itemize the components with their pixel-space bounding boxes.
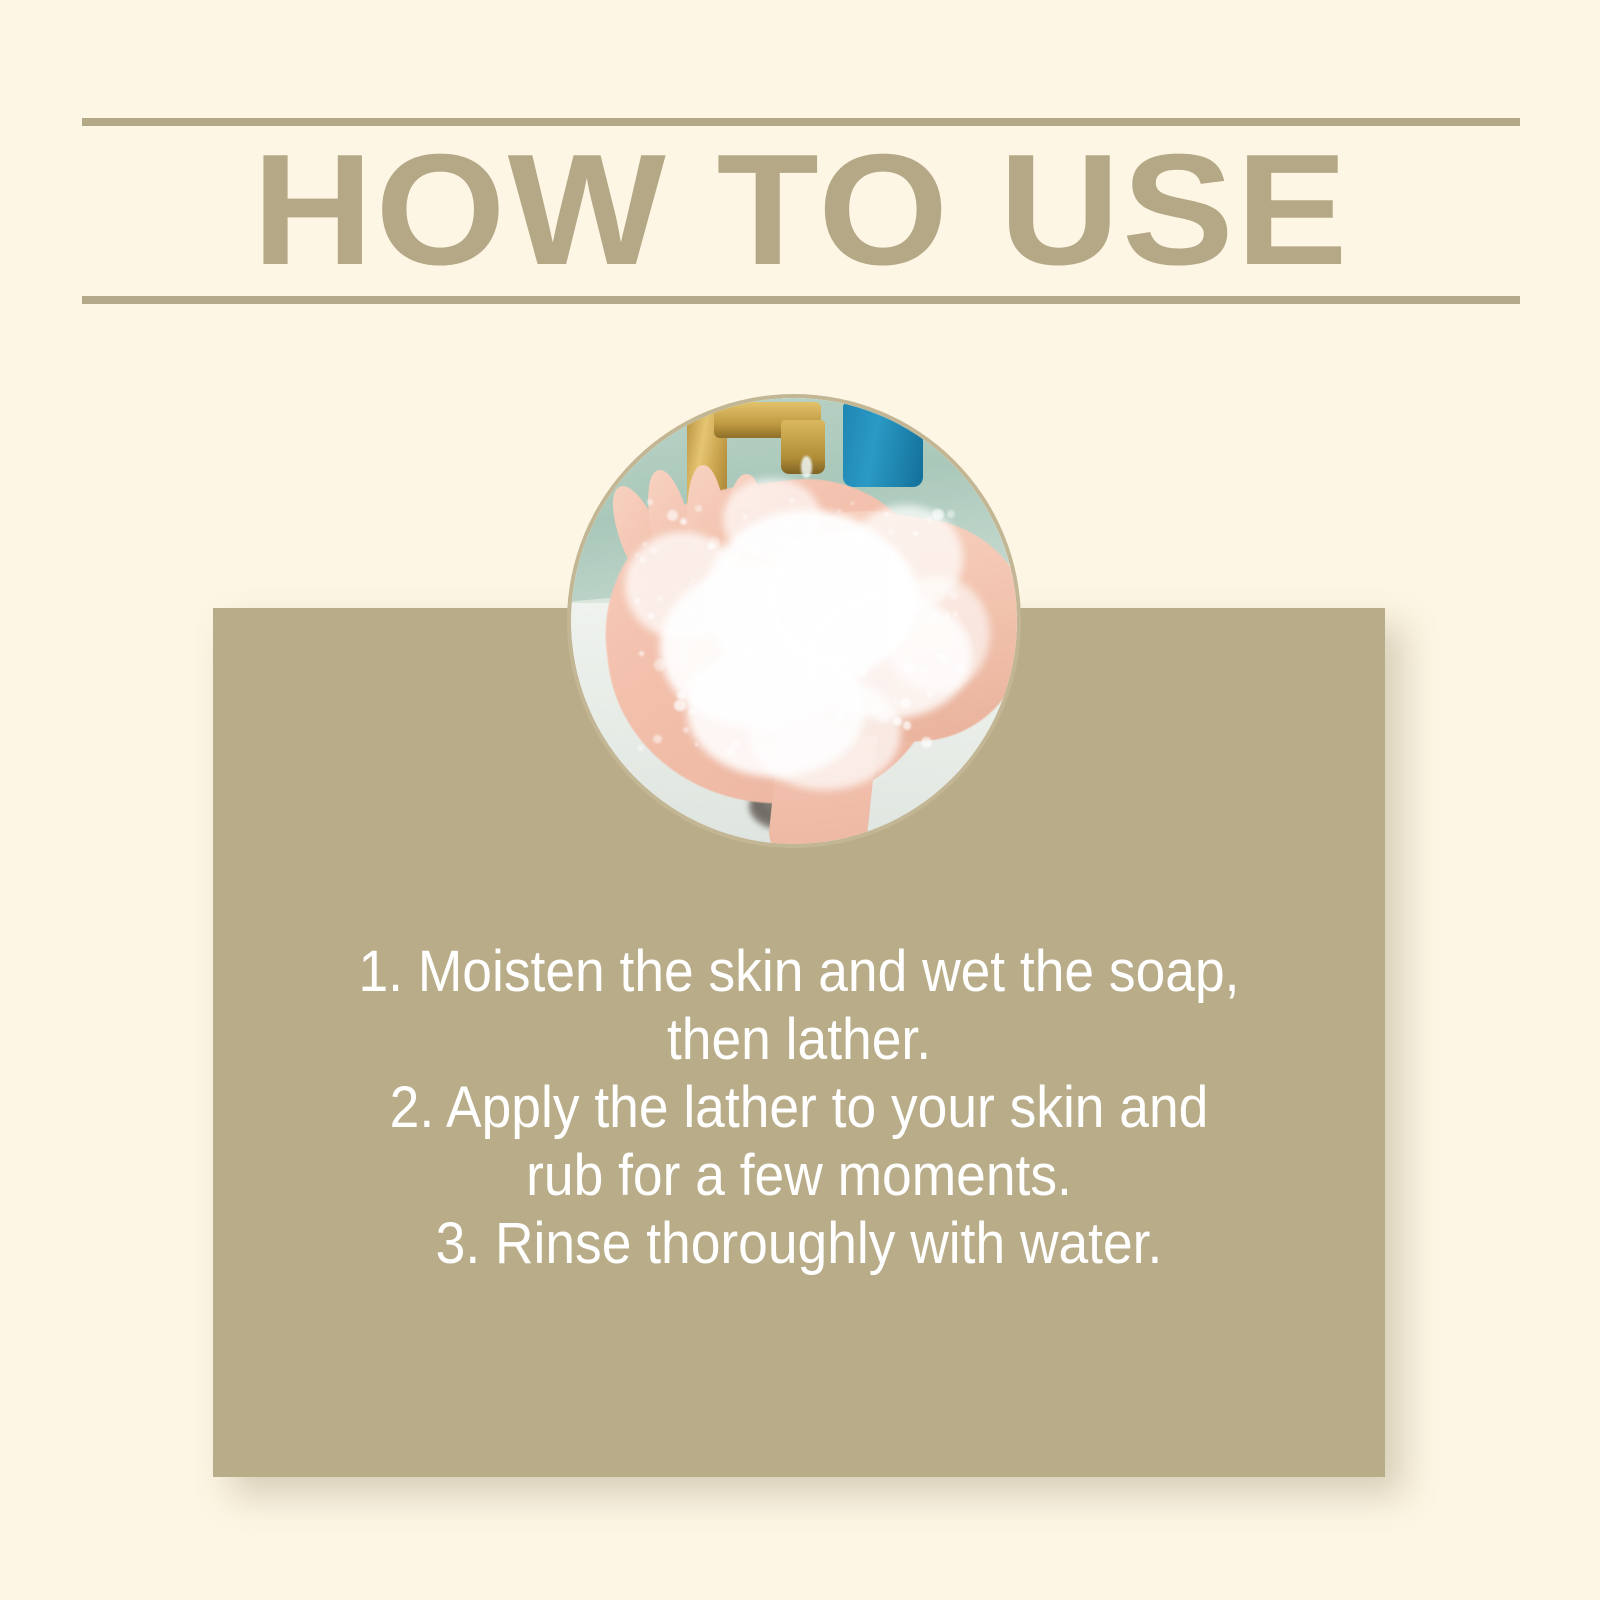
photo-foam-speck <box>862 583 873 594</box>
poster-canvas: HOW TO USE 1. Moisten the skin and wet t… <box>0 0 1600 1600</box>
photo-foam-speck <box>667 510 678 521</box>
step-line-1: 1. Moisten the skin and wet the soap, <box>297 938 1302 1006</box>
photo-foam-speck <box>731 659 741 669</box>
photo-foam-speck <box>699 709 702 712</box>
photo-foam-speck <box>699 699 704 704</box>
photo-foam-speck <box>790 600 801 611</box>
photo-foam-speck <box>954 663 965 674</box>
photo-foam-speck <box>640 557 645 562</box>
photo-foam-speck <box>924 619 928 623</box>
photo-foam-speck <box>767 722 777 732</box>
photo-foam-speck <box>643 542 647 546</box>
photo-foam-speck <box>691 578 694 581</box>
photo-foam-speck <box>709 537 721 549</box>
photo-foam-speck <box>876 702 881 707</box>
photo-foam-9 <box>883 576 990 692</box>
photo-foam-speck <box>921 737 931 747</box>
photo-foam-speck <box>949 590 959 600</box>
photo-foam-speck <box>689 583 692 586</box>
photo-foam-speck <box>825 625 830 630</box>
photo-foam-speck <box>689 709 693 713</box>
photo-foam-speck <box>843 636 854 647</box>
photo-foam-speck <box>678 655 689 666</box>
photo-foam-speck <box>743 515 747 519</box>
photo-foam-speck <box>726 747 735 756</box>
photo-foam-speck <box>761 632 765 636</box>
header-rule-bottom <box>82 296 1520 304</box>
photo-soap-dispenser <box>843 402 923 487</box>
photo-foam-speck <box>718 567 724 573</box>
photo-foam-speck <box>685 680 694 689</box>
photo-foam-speck <box>709 699 717 707</box>
photo-foam-speck <box>835 711 845 721</box>
photo-foam-speck <box>716 574 721 579</box>
photo-foam-speck <box>913 531 918 536</box>
photo-foam-speck <box>743 591 751 599</box>
photo-foam-8 <box>749 675 901 791</box>
photo-foam-speck <box>945 614 950 619</box>
photo-foam-speck <box>674 700 685 711</box>
photo-foam-speck <box>647 499 653 505</box>
photo-foam-speck <box>903 721 912 730</box>
photo-foam-speck <box>785 712 794 721</box>
photo-foam-speck <box>795 556 804 565</box>
photo-foam-speck <box>695 505 702 512</box>
photo-foam-speck <box>937 652 947 662</box>
photo-foam-speck <box>676 645 683 652</box>
step-line-2: then lather. <box>297 1006 1302 1074</box>
photo-foam-speck <box>653 735 662 744</box>
photo-foam-speck <box>773 705 777 709</box>
photo-foam-speck <box>684 608 695 619</box>
photo-foam-speck <box>837 509 842 514</box>
photo-foam-speck <box>893 717 902 726</box>
photo-foam-speck <box>780 588 788 596</box>
photo-foam-speck <box>695 673 705 683</box>
photo-foam-speck <box>926 690 933 697</box>
photo-foam-speck <box>635 553 639 557</box>
photo-foam-speck <box>857 673 864 680</box>
photo-foam-speck <box>712 590 717 595</box>
step-line-3: 2. Apply the lather to your skin and <box>297 1074 1302 1142</box>
photo-foam-speck <box>932 509 944 521</box>
photo-foam-speck <box>787 687 792 692</box>
photo-foam-speck <box>885 513 888 516</box>
photo-foam-speck <box>893 699 900 706</box>
header: HOW TO USE <box>82 118 1520 304</box>
photo-foam-speck <box>857 597 863 603</box>
photo-foam-speck <box>638 745 644 751</box>
photo-foam-speck <box>784 521 794 531</box>
photo-foam-speck <box>657 597 661 601</box>
photo-foam-10 <box>723 478 821 558</box>
photo-foam-speck <box>648 613 654 619</box>
page-title: HOW TO USE <box>39 124 1563 296</box>
photo-foam-6 <box>625 532 741 639</box>
photo-foam-speck <box>886 574 894 582</box>
photo-foam-speck <box>650 547 656 553</box>
photo-foam-speck <box>702 634 709 641</box>
photo-foam-speck <box>683 727 689 733</box>
photo-foam-speck <box>920 667 927 674</box>
hero-photo-handwashing <box>571 398 1017 844</box>
photo-foam-speck <box>789 538 797 546</box>
photo-foam-speck <box>654 659 665 670</box>
photo-foam-speck <box>776 533 785 542</box>
photo-foam-speck <box>841 705 846 710</box>
photo-foam-speck <box>900 698 910 708</box>
photo-foam-speck <box>821 709 825 713</box>
photo-foam-speck <box>866 550 871 555</box>
steps-list: 1. Moisten the skin and wet the soap, th… <box>260 938 1338 1278</box>
photo-foam-speck <box>755 614 764 623</box>
step-line-5: 3. Rinse thoroughly with water. <box>297 1210 1302 1278</box>
photo-foam-speck <box>836 675 842 681</box>
step-line-4: rub for a few moments. <box>297 1142 1302 1210</box>
photo-foam-speck <box>780 599 786 605</box>
photo-foam-speck <box>735 595 741 601</box>
hero-photo-circle <box>571 398 1017 844</box>
